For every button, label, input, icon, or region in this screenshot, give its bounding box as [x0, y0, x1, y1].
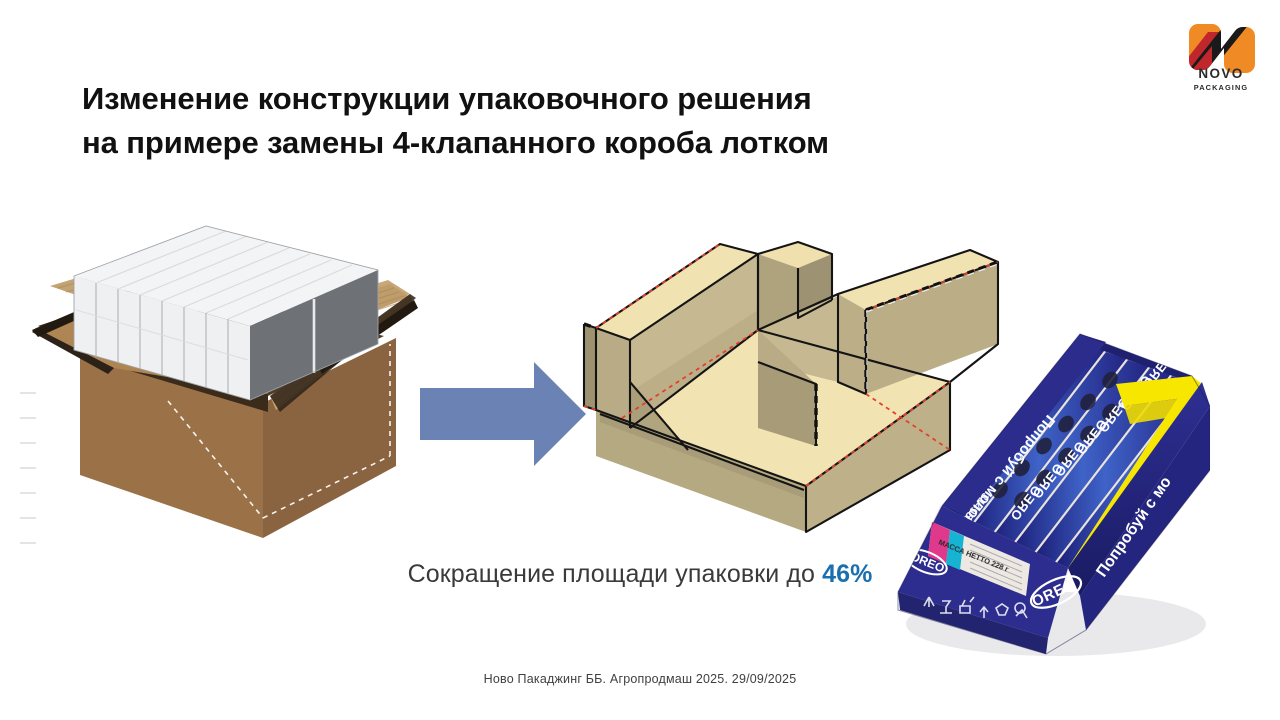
illustration-oreo-tray: OREO OREO OREO OREO OREO OREO OREO Попро…: [880, 310, 1210, 670]
novo-packaging-logo: NOVO PACKAGING: [1178, 12, 1264, 96]
slide-title: Изменение конструкции упаковочного решен…: [82, 77, 1042, 165]
logo-mark-icon: NOVO PACKAGING: [1178, 12, 1264, 96]
arrow-right-icon: [412, 358, 592, 470]
reduction-percent: 46%: [822, 560, 872, 588]
logo-word-packaging: PACKAGING: [1194, 83, 1249, 92]
slide-footer: Ново Пакаджинг ББ. Агропродмаш 2025. 29/…: [0, 672, 1280, 686]
title-line-1: Изменение конструкции упаковочного решен…: [82, 81, 812, 116]
logo-word-novo: NOVO: [1198, 66, 1243, 81]
transformation-arrow: [412, 358, 592, 470]
reduction-caption: Сокращение площади упаковки до 46%: [0, 560, 1280, 589]
caption-text: Сокращение площади упаковки до: [408, 560, 823, 588]
illustration-four-flap-box: [18, 198, 418, 538]
title-line-2: на примере замены 4-клапанного короба ло…: [82, 121, 1042, 165]
slide-canvas: NOVO PACKAGING Изменение конструкции упа…: [0, 0, 1280, 720]
